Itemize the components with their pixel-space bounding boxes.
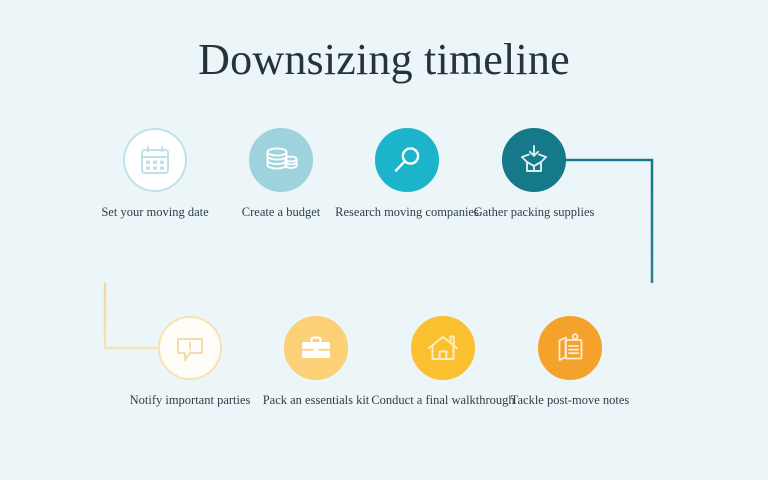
step-1-bubble[interactable] xyxy=(123,128,187,192)
page-title: Downsizing timeline xyxy=(0,38,768,82)
notepad-pinned-icon xyxy=(553,331,587,365)
step-5-bubble[interactable] xyxy=(158,316,222,380)
step-8-bubble[interactable] xyxy=(538,316,602,380)
house-icon xyxy=(426,332,460,364)
timeline-step-8[interactable]: Tackle post-move notes xyxy=(490,316,650,408)
step-6-bubble[interactable] xyxy=(284,316,348,380)
infographic-canvas: Downsizing timeline xyxy=(0,0,768,480)
step-4-bubble[interactable] xyxy=(502,128,566,192)
step-3-bubble[interactable] xyxy=(375,128,439,192)
magnifier-icon xyxy=(391,144,423,176)
calendar-icon xyxy=(138,143,172,177)
open-box-icon xyxy=(517,143,551,177)
step-4-label: Gather packing supplies xyxy=(454,204,614,220)
speech-bubble-alert-icon xyxy=(174,332,206,364)
step-7-bubble[interactable] xyxy=(411,316,475,380)
briefcase-icon xyxy=(299,332,333,364)
step-8-label: Tackle post-move notes xyxy=(490,392,650,408)
timeline-step-4[interactable]: Gather packing supplies xyxy=(454,128,614,220)
step-2-bubble[interactable] xyxy=(249,128,313,192)
coins-stack-icon xyxy=(263,143,299,177)
